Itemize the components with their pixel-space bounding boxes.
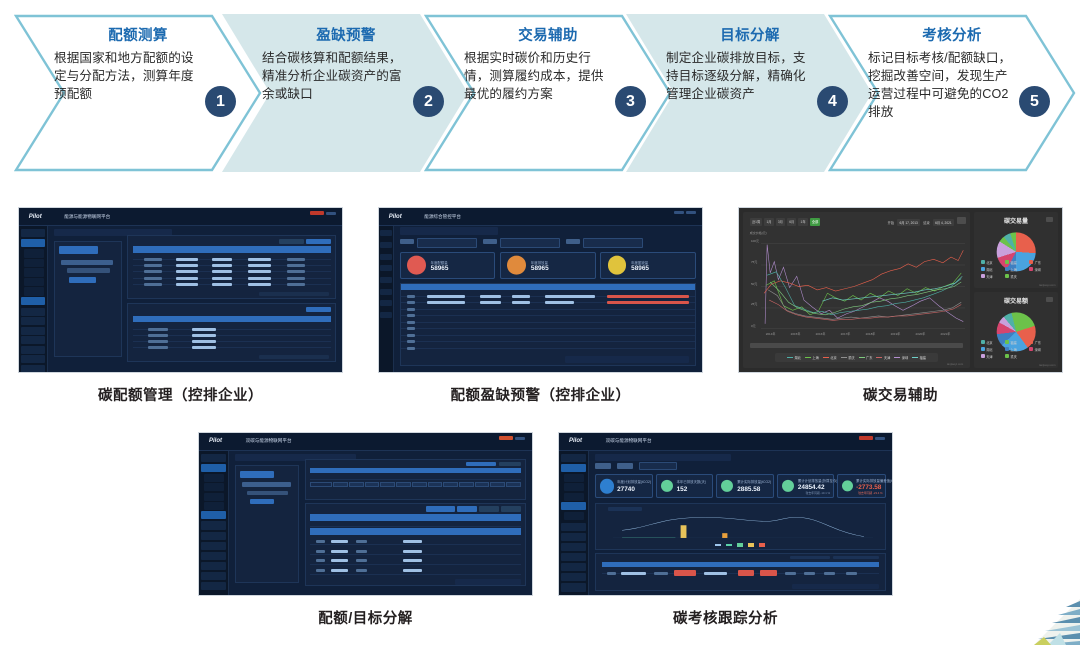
mini-app-sidebar-1[interactable] <box>19 226 48 372</box>
legend-item: 湖北 <box>981 347 1003 352</box>
mini-app-sidebar-5[interactable] <box>559 451 589 595</box>
process-flow: 配额测算 根据国家和地方配额的设定与分配方法，测算年度预配额 1 盈缺预警 结合… <box>0 0 1080 185</box>
mini-app-main-1 <box>48 226 342 372</box>
kpi-label: 年度排放量 <box>531 260 548 265</box>
process-step-1-title: 配额测算 <box>54 28 222 45</box>
screenshot-image-1: Pilot 能源与能源物联网平台 <box>18 207 343 373</box>
y-tick: 100元 <box>751 239 759 243</box>
kpi-card-cumulative-plan[interactable]: 累计计划排放量(折算至今)(tCO2) 24854.42 较去年同期 -10.1… <box>777 474 835 499</box>
trend-plot <box>613 510 873 538</box>
menu-icon[interactable] <box>957 217 966 224</box>
tree-panel[interactable] <box>54 241 122 358</box>
mini-app-4: Pilot 双碳与能源物联网平台 <box>199 433 532 595</box>
y-axis-title: 成交价格(元) <box>750 231 767 235</box>
x-tick: 2019年 <box>891 332 901 336</box>
screenshot-caption-4: 配额/目标分解 <box>198 607 533 628</box>
mini-app-main-4 <box>229 451 532 595</box>
x-tick: 2016年 <box>816 332 826 336</box>
mini-app-1: Pilot 能源与能源物联网平台 <box>19 208 342 372</box>
y-tick: 25元 <box>751 302 757 306</box>
annual-plan-panel[interactable] <box>305 459 526 499</box>
process-step-4-title: 目标分解 <box>666 28 834 45</box>
screenshot-image-4: Pilot 双碳与能源物联网平台 <box>198 432 533 596</box>
detail-table-panel[interactable] <box>127 303 336 361</box>
process-step-3-badge: 3 <box>615 86 646 117</box>
process-step-5-body: 标记目标考核/配额缺口，挖掘改善空间，发现生产运营过程中可避免的CO2排放 <box>868 50 1020 122</box>
window-controls[interactable] <box>674 211 696 214</box>
x-tick: 2015年 <box>791 332 801 336</box>
pie-card-amount[interactable]: 碳交易额 北京 福建 广东 湖北 上海 深圳 天津 重庆 <box>974 292 1058 368</box>
app-title: 双碳与能源物联网平台 <box>246 438 292 444</box>
range-button[interactable]: 近1周 <box>750 218 763 225</box>
trend-legend <box>648 542 833 547</box>
mini-app-sidebar-2[interactable] <box>379 226 394 372</box>
range-button-group[interactable]: 近1周 1月 3月 6月 1年 全部 <box>750 218 821 225</box>
x-tick: 2014年 <box>766 332 776 336</box>
slide-root: 配额测算 根据国家和地方配额的设定与分配方法，测算年度预配额 1 盈缺预警 结合… <box>0 0 1080 645</box>
filter-row[interactable] <box>400 238 696 248</box>
tree-panel[interactable] <box>235 465 299 583</box>
assessment-table-panel[interactable] <box>595 553 886 590</box>
app-title: 能源与能源物联网平台 <box>64 214 110 220</box>
menu-icon[interactable] <box>1046 217 1053 222</box>
kpi-card-days[interactable]: 本年已排放天数(天) 152 <box>656 474 714 499</box>
process-step-3-body: 根据实时碳价和历史行情，测算履约成本，提供最优的履约方案 <box>464 50 616 104</box>
pagination[interactable] <box>792 584 879 589</box>
legend-item: 北京 <box>823 355 837 360</box>
window-controls[interactable] <box>859 436 885 440</box>
kpi-value: 58965 <box>431 265 449 272</box>
mini-app-2: Pilot 能源综合管控平台 <box>379 208 702 372</box>
legend-item: 上海 <box>1005 347 1027 352</box>
date-range-picker[interactable]: 开始 6月 17, 2013 结束 6月 4, 2021 <box>888 219 955 226</box>
pagination[interactable] <box>259 292 329 296</box>
screenshot-image-3: 近1周 1月 3月 6月 1年 全部 开始 6月 17, 2013 结束 6月 … <box>738 207 1063 373</box>
kpi-value: 58965 <box>531 265 549 272</box>
kpi-card-plan[interactable]: 年度计划排放量(tCO2) 27740 <box>595 474 653 499</box>
pie-legend: 北京 福建 广东 湖北 上海 深圳 天津 重庆 <box>981 340 1052 359</box>
kpi-label: 年度盈缺量 <box>631 260 648 265</box>
kpi-value: 27740 <box>617 486 635 493</box>
date-to-input[interactable]: 6月 4, 2021 <box>933 219 954 226</box>
date-to-label: 结束 <box>923 220 929 225</box>
watermark: tanjiaoyi.com <box>1039 363 1055 367</box>
window-controls[interactable] <box>310 211 336 215</box>
screenshot-caption-3: 碳交易辅助 <box>738 384 1063 405</box>
pagination[interactable] <box>565 356 689 362</box>
app-logo: Pilot <box>209 438 222 444</box>
kpi-value: 152 <box>677 486 688 493</box>
mini-app-topbar-2: Pilot 能源综合管控平台 <box>379 208 702 226</box>
process-step-3-title: 交易辅助 <box>464 28 632 45</box>
kpi-label: 年度计划排放量(tCO2) <box>617 479 651 484</box>
range-button-selected[interactable]: 全部 <box>810 218 821 225</box>
app-logo: Pilot <box>389 214 402 220</box>
legend-item: 福建 <box>1005 260 1027 265</box>
legend-item: 福建 <box>1005 340 1027 345</box>
month-input-row[interactable] <box>310 482 520 487</box>
date-from-label: 开始 <box>888 220 894 225</box>
pie-card-volume[interactable]: 碳交易量 北京 福建 广东 湖北 上海 深圳 天津 重庆 <box>974 212 1058 288</box>
mini-app-main-5: 年度计划排放量(tCO2) 27740 本年已排放天数(天) 152 累计实际排… <box>589 451 892 595</box>
process-step-2-badge: 2 <box>413 86 444 117</box>
emission-trend-panel[interactable] <box>595 503 886 551</box>
kpi-card-deviation[interactable]: 累计实际排放量偏差值(tCO2) -2773.58 较去年同期 -23.4 % <box>837 474 885 499</box>
process-step-5-title: 考核分析 <box>868 28 1036 45</box>
legend-item: 广东 <box>1029 260 1051 265</box>
kpi-subtext: 较去年同期 -23.4 % <box>858 491 882 495</box>
process-step-5[interactable]: 考核分析 标记目标考核/配额缺口，挖掘改善空间，发现生产运营过程中可避免的CO2… <box>828 14 1076 172</box>
breadcrumb <box>595 454 731 461</box>
kpi-card-quota[interactable]: 年度配额量 58965 <box>400 252 496 278</box>
legend-item: 深圳 <box>1029 267 1051 272</box>
x-tick: 2018年 <box>866 332 876 336</box>
screenshot-caption-5: 碳考核跟踪分析 <box>558 607 893 628</box>
legend-item: 深圳 <box>1029 347 1051 352</box>
x-tick: 2021年 <box>941 332 951 336</box>
process-step-1-body: 根据国家和地方配额的设定与分配方法，测算年度预配额 <box>54 50 206 104</box>
price-chart[interactable]: 近1周 1月 3月 6月 1年 全部 开始 6月 17, 2013 结束 6月 … <box>743 212 970 368</box>
screenshot-image-2: Pilot 能源综合管控平台 <box>378 207 703 373</box>
y-tick: 0元 <box>751 324 756 328</box>
kpi-value: 2885.58 <box>737 486 760 493</box>
legend-item: 湖北 <box>787 355 801 360</box>
screenshot-card-5[interactable]: Pilot 双碳与能源物联网平台 <box>558 432 893 628</box>
x-tick: 2020年 <box>916 332 926 336</box>
mini-app-topbar-4: Pilot 双碳与能源物联网平台 <box>199 433 532 451</box>
legend-item: 天津 <box>981 354 1003 359</box>
range-button[interactable]: 6月 <box>787 218 796 225</box>
mini-app-5: Pilot 双碳与能源物联网平台 <box>559 433 892 595</box>
screenshot-caption-1: 碳配额管理（控排企业） <box>18 384 343 405</box>
legend-item: 北京 <box>981 340 1003 345</box>
y-tick: 50元 <box>751 282 757 286</box>
y-tick: 75元 <box>751 260 757 264</box>
screenshot-card-1[interactable]: Pilot 能源与能源物联网平台 <box>18 207 343 405</box>
legend-item: 上海 <box>805 355 819 360</box>
kpi-label: 累计实际排放量(tCO2) <box>737 479 771 484</box>
legend-item: 天津 <box>876 355 890 360</box>
screenshot-card-4[interactable]: Pilot 双碳与能源物联网平台 <box>198 432 533 628</box>
menu-icon[interactable] <box>1046 297 1053 302</box>
process-step-1-badge: 1 <box>205 86 236 117</box>
x-tick: 2017年 <box>841 332 851 336</box>
kpi-card-actual[interactable]: 累计实际排放量(tCO2) 2885.58 <box>716 474 774 499</box>
process-step-4-badge: 4 <box>817 86 848 117</box>
screenshot-image-5: Pilot 双碳与能源物联网平台 <box>558 432 893 596</box>
app-title: 能源综合管控平台 <box>424 214 461 220</box>
screenshot-card-2[interactable]: Pilot 能源综合管控平台 <box>378 207 703 405</box>
app-title: 双碳与能源物联网平台 <box>606 438 652 444</box>
chart-range-scrollbar[interactable] <box>750 343 963 348</box>
legend-item: 北京 <box>981 260 1003 265</box>
pagination[interactable] <box>455 579 521 585</box>
trading-dashboard: 近1周 1月 3月 6月 1年 全部 开始 6月 17, 2013 结束 6月 … <box>739 208 1062 372</box>
app-logo: Pilot <box>569 438 582 444</box>
process-step-4-body: 制定企业碳排放目标，支持目标逐级分解，精确化管理企业碳资产 <box>666 50 818 104</box>
kpi-label: 累计实际排放量偏差值(tCO2) <box>856 478 893 483</box>
legend-item: 重庆 <box>841 355 855 360</box>
corner-decoration-shape <box>1008 599 1080 645</box>
mini-app-topbar-5: Pilot 双碳与能源物联网平台 <box>559 433 892 451</box>
process-step-2-body: 结合碳核算和配额结果，精准分析企业碳资产的富余或缺口 <box>262 50 414 104</box>
mini-app-topbar-1: Pilot 能源与能源物联网平台 <box>19 208 342 226</box>
legend-item: 湖北 <box>981 267 1003 272</box>
quota-table-panel[interactable] <box>127 235 336 299</box>
alert-table-panel[interactable] <box>400 283 696 366</box>
pie-legend: 北京 福建 广东 湖北 上海 深圳 天津 重庆 <box>981 260 1052 279</box>
legend-item: 福建 <box>912 355 926 360</box>
kpi-card-emission[interactable]: 年度排放量 58965 <box>500 252 596 278</box>
corner-decoration <box>1008 599 1080 645</box>
kpi-label: 年度配额量 <box>431 260 448 265</box>
legend-item: 天津 <box>981 274 1003 279</box>
watermark: tanjiaoyi.com <box>1039 283 1055 287</box>
mini-app-main-2: 年度配额量 58965 年度排放量 58965 年度盈缺量 58965 <box>394 226 702 372</box>
chart-legend[interactable]: 湖北 上海 北京 重庆 广东 天津 深圳 福建 <box>775 353 938 362</box>
range-button[interactable]: 1月 <box>764 218 773 225</box>
range-button[interactable]: 1年 <box>798 218 807 225</box>
date-from-input[interactable]: 6月 17, 2013 <box>897 219 920 226</box>
legend-item: 广东 <box>1029 340 1051 345</box>
screenshot-card-3[interactable]: 近1周 1月 3月 6月 1年 全部 开始 6月 17, 2013 结束 6月 … <box>738 207 1063 405</box>
legend-item: 上海 <box>1005 267 1027 272</box>
kpi-card-surplus[interactable]: 年度盈缺量 58965 <box>600 252 696 278</box>
legend-item: 重庆 <box>1005 354 1027 359</box>
app-logo: Pilot <box>29 214 42 220</box>
kpi-value: 58965 <box>631 265 649 272</box>
process-step-5-badge: 5 <box>1019 86 1050 117</box>
kpi-label: 本年已排放天数(天) <box>677 479 706 484</box>
pagination[interactable] <box>259 355 329 360</box>
mini-app-sidebar-4[interactable] <box>199 451 229 595</box>
decomposition-panel[interactable] <box>305 503 526 587</box>
screenshot-caption-2: 配额盈缺预警（控排企业） <box>378 384 703 405</box>
breadcrumb <box>400 227 499 234</box>
legend-item: 重庆 <box>1005 274 1027 279</box>
filter-row[interactable] <box>595 462 731 469</box>
legend-item: 深圳 <box>894 355 908 360</box>
pie-column: 碳交易量 北京 福建 广东 湖北 上海 深圳 天津 重庆 <box>974 212 1058 368</box>
watermark: tanjiaoyi.com <box>947 362 963 366</box>
kpi-subtext: 较去年同期 -10.1 % <box>806 491 830 495</box>
legend-item: 广东 <box>859 355 873 360</box>
range-button[interactable]: 3月 <box>776 218 785 225</box>
window-controls[interactable] <box>499 436 525 440</box>
process-step-2-title: 盈缺预警 <box>262 28 430 45</box>
chart-plot-area <box>761 239 965 329</box>
